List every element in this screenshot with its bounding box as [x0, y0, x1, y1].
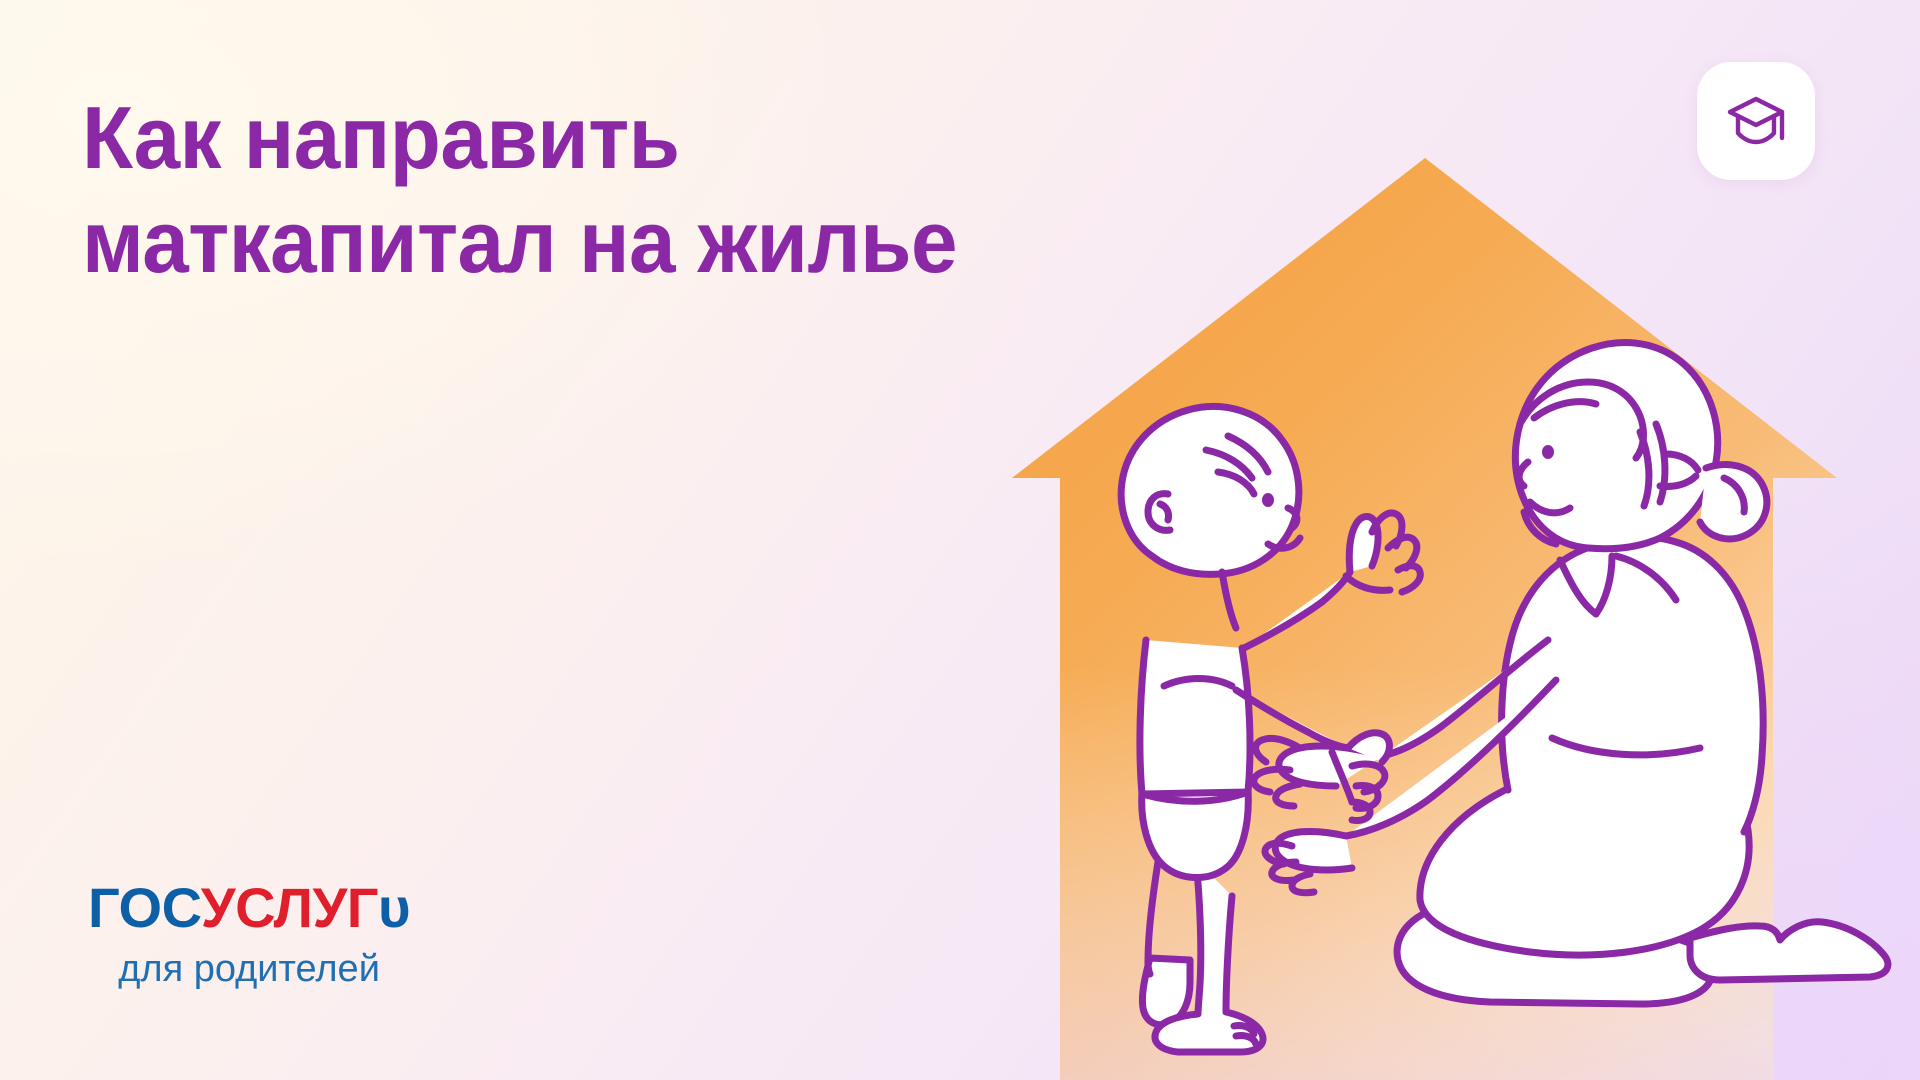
child-figure: [1121, 407, 1420, 1052]
gosuslugi-logo[interactable]: ГОСУСЛУГᴜ для родителей: [88, 878, 410, 990]
logo-part-uslug: УСЛУГ: [201, 876, 378, 939]
house-shape: [1012, 158, 1837, 1080]
mother-figure: [1254, 342, 1888, 1004]
title-line-2: маткапитал на жилье: [82, 190, 966, 294]
logo-wordmark: ГОСУСЛУГᴜ: [88, 878, 410, 938]
logo-part-i: ᴜ: [378, 876, 410, 939]
logo-part-gos: ГОС: [88, 876, 201, 939]
logo-subtitle: для родителей: [88, 948, 410, 990]
education-badge[interactable]: [1697, 62, 1815, 180]
graduation-cap-icon: [1725, 93, 1787, 149]
banner-canvas: Как направить маткапитал на жилье ГОСУСЛ…: [0, 0, 1920, 1080]
banner-title: Как направить маткапитал на жилье: [82, 86, 1012, 294]
title-line-1: Как направить: [82, 86, 966, 190]
